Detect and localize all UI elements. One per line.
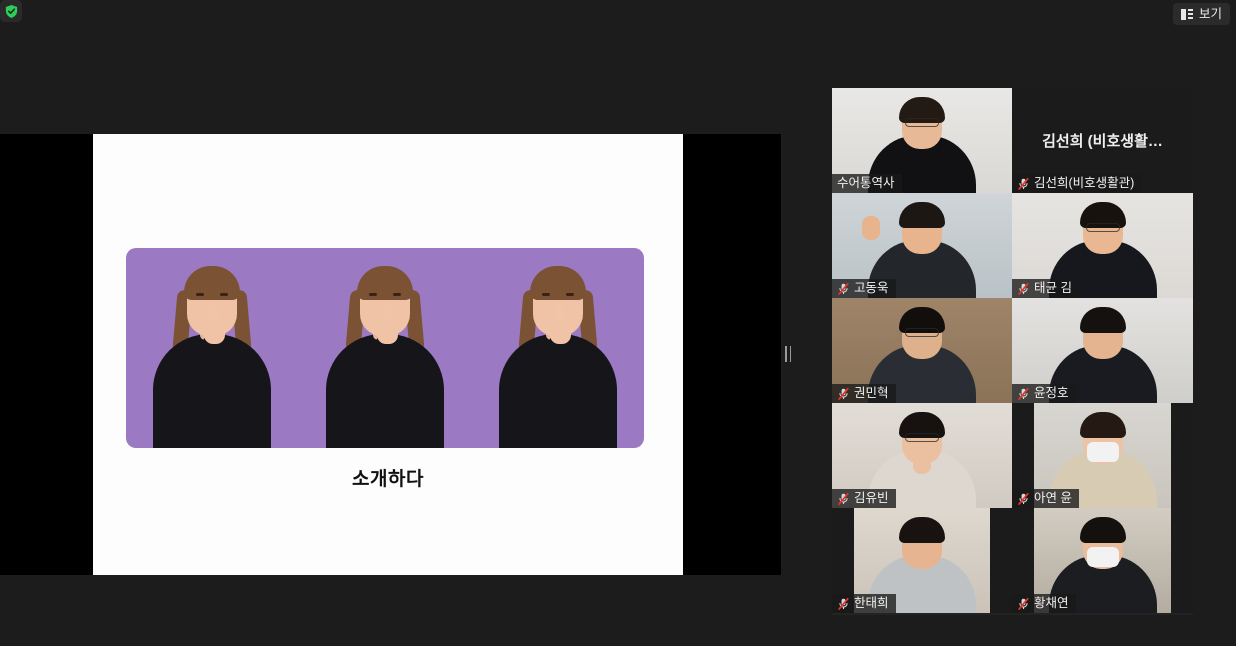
participants-video-panel: 수어통역사 김선희 (비호생활… 김선희(비호생활관) 고동욱 bbox=[832, 88, 1193, 615]
shield-check-icon bbox=[4, 4, 19, 19]
participant-tile[interactable]: 권민혁 bbox=[832, 298, 1012, 403]
participant-name: 황채연 bbox=[1034, 597, 1069, 610]
view-button-label: 보기 bbox=[1199, 8, 1222, 21]
presentation-slide: 소개하다 bbox=[93, 134, 683, 575]
participant-name: 권민혁 bbox=[854, 387, 889, 400]
participant-tile[interactable]: 한태희 bbox=[832, 508, 1012, 613]
participant-name-badge: 김선희(비호생활관) bbox=[1012, 174, 1141, 193]
sign-frame-1 bbox=[126, 248, 299, 448]
participant-tile[interactable]: 김선희 (비호생활… 김선희(비호생활관) bbox=[1012, 88, 1193, 193]
participant-tile[interactable]: 윤정호 bbox=[1012, 298, 1193, 403]
security-shield-button[interactable] bbox=[0, 0, 22, 22]
participant-name: 고동욱 bbox=[854, 282, 889, 295]
top-bar: 보기 bbox=[0, 0, 1236, 28]
participant-name-badge: 한태희 bbox=[832, 594, 896, 613]
panel-resize-handle[interactable] bbox=[781, 134, 830, 575]
mic-muted-icon bbox=[1017, 492, 1030, 506]
participant-tile[interactable]: 아연 윤 bbox=[1012, 403, 1193, 508]
participant-name-badge: 황채연 bbox=[1012, 594, 1076, 613]
mic-muted-icon bbox=[1017, 177, 1030, 191]
sign-language-image bbox=[126, 248, 644, 448]
participant-name: 윤정호 bbox=[1034, 387, 1069, 400]
participant-name: 아연 윤 bbox=[1034, 492, 1072, 505]
view-layout-button[interactable]: 보기 bbox=[1173, 3, 1230, 25]
mic-muted-icon bbox=[837, 387, 850, 401]
mic-muted-icon bbox=[837, 597, 850, 611]
resize-grip-icon bbox=[785, 346, 793, 362]
mic-muted-icon bbox=[837, 282, 850, 296]
participant-name-badge: 권민혁 bbox=[832, 384, 896, 403]
mic-muted-icon bbox=[1017, 387, 1030, 401]
participant-name: 수어통역사 bbox=[837, 177, 895, 190]
slide-caption: 소개하다 bbox=[93, 464, 683, 491]
participant-name: 김유빈 bbox=[854, 492, 889, 505]
participant-tile[interactable]: 수어통역사 bbox=[832, 88, 1012, 193]
zoom-meeting-window: 보기 bbox=[0, 0, 1236, 646]
mic-muted-icon bbox=[1017, 282, 1030, 296]
participant-tile[interactable]: 태균 김 bbox=[1012, 193, 1193, 298]
participant-name: 김선희(비호생활관) bbox=[1034, 177, 1134, 190]
participant-centered-name: 김선희 (비호생활… bbox=[1034, 130, 1171, 151]
participant-name-badge: 김유빈 bbox=[832, 489, 896, 508]
sign-frame-2 bbox=[299, 248, 472, 448]
participant-name-badge: 아연 윤 bbox=[1012, 489, 1079, 508]
participant-tile-grid: 수어통역사 김선희 (비호생활… 김선희(비호생활관) 고동욱 bbox=[832, 88, 1193, 613]
participant-name: 한태희 bbox=[854, 597, 889, 610]
participant-name-badge: 고동욱 bbox=[832, 279, 896, 298]
mic-muted-icon bbox=[1017, 597, 1030, 611]
participant-name-badge: 윤정호 bbox=[1012, 384, 1076, 403]
participant-tile[interactable]: 고동욱 bbox=[832, 193, 1012, 298]
participant-name: 태균 김 bbox=[1034, 282, 1072, 295]
layout-grid-icon bbox=[1181, 9, 1193, 20]
participant-tile[interactable]: 황채연 bbox=[1012, 508, 1193, 613]
participant-name-badge: 태균 김 bbox=[1012, 279, 1079, 298]
sign-frame-3 bbox=[471, 248, 644, 448]
shared-screen-stage: 소개하다 bbox=[0, 134, 781, 575]
participant-tile[interactable]: 김유빈 bbox=[832, 403, 1012, 508]
participant-name-badge: 수어통역사 bbox=[832, 174, 902, 193]
mic-muted-icon bbox=[837, 492, 850, 506]
